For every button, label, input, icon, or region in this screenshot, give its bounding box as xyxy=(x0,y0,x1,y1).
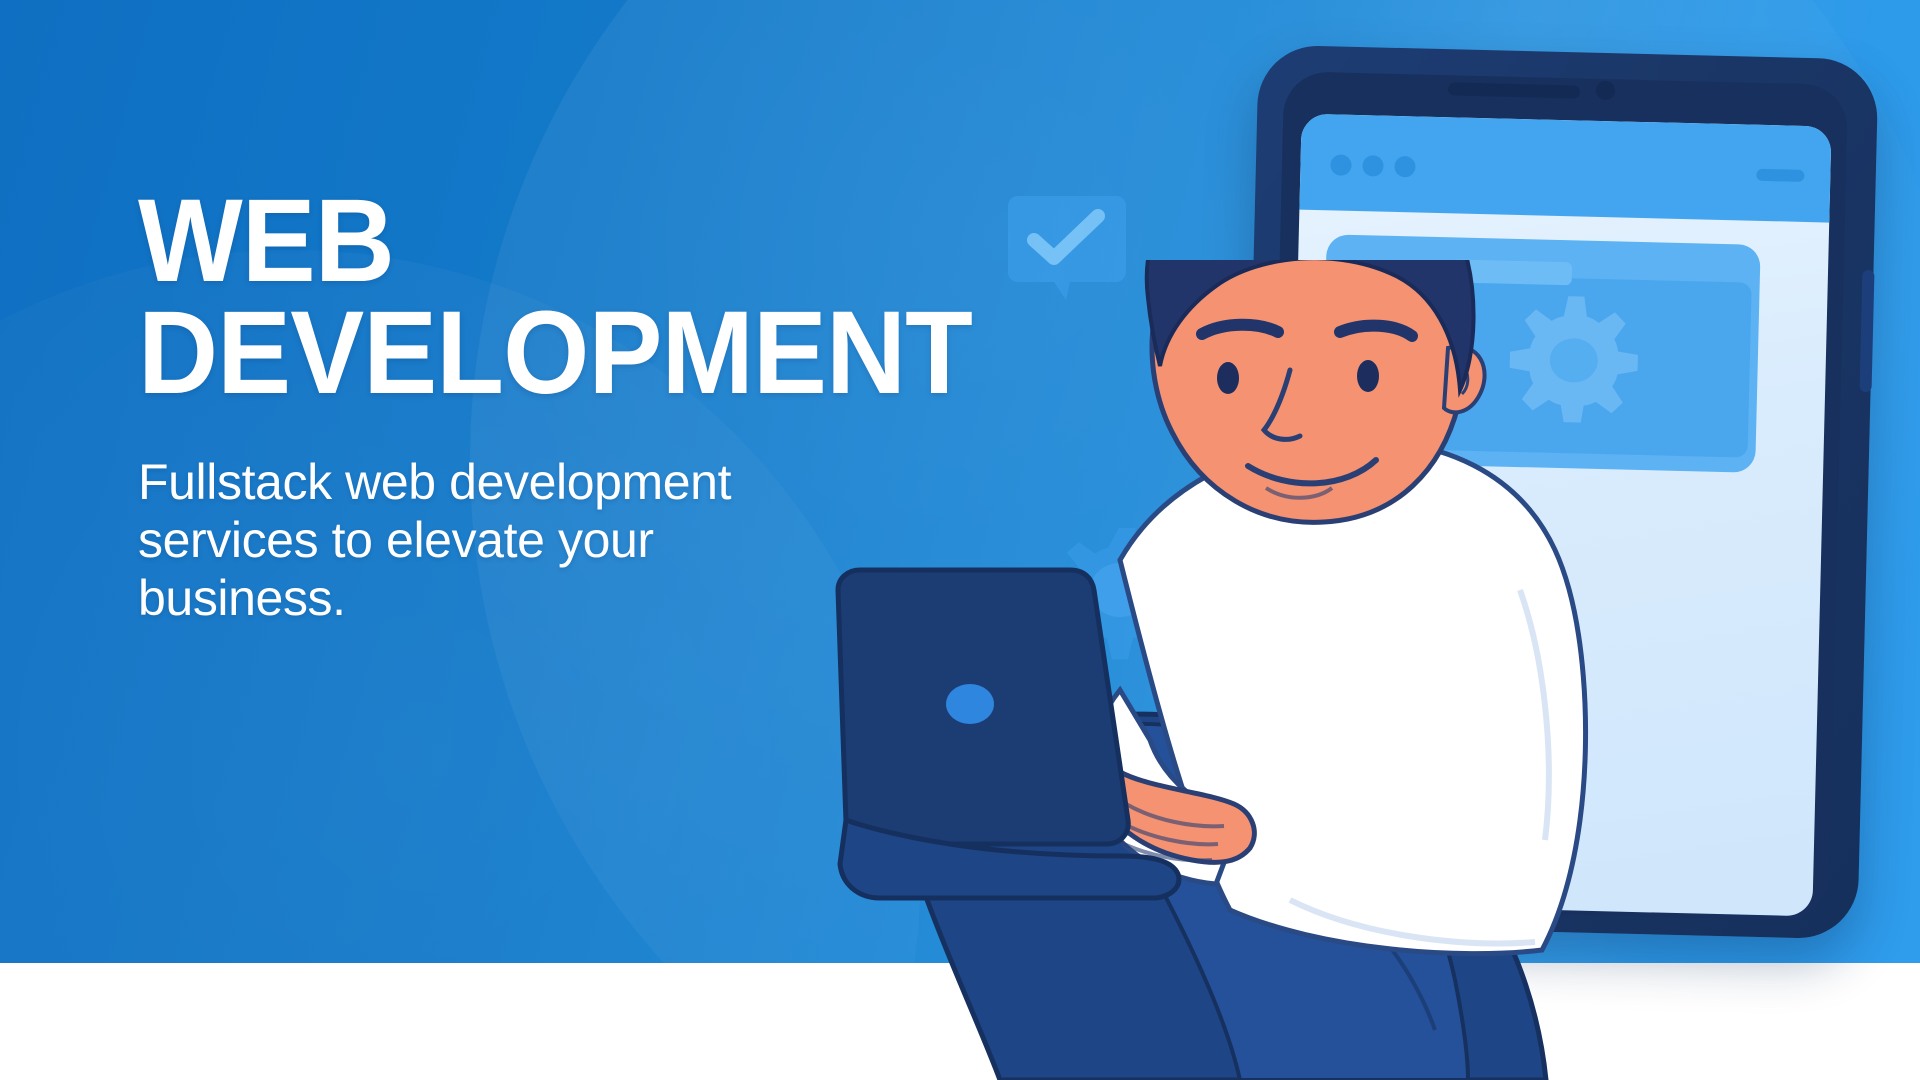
page-subtitle: Fullstack web development services to el… xyxy=(138,453,778,627)
window-dot-1[interactable] xyxy=(1330,154,1352,176)
window-dots xyxy=(1330,154,1415,177)
person-illustration xyxy=(820,260,1920,1080)
window-dot-3[interactable] xyxy=(1394,156,1416,178)
menu-pill-icon[interactable] xyxy=(1756,169,1804,182)
hero-banner: WEB DEVELOPMENT Fullstack web developmen… xyxy=(0,0,1920,1080)
browser-chrome-bar xyxy=(1299,114,1831,223)
window-dot-2[interactable] xyxy=(1362,155,1384,177)
